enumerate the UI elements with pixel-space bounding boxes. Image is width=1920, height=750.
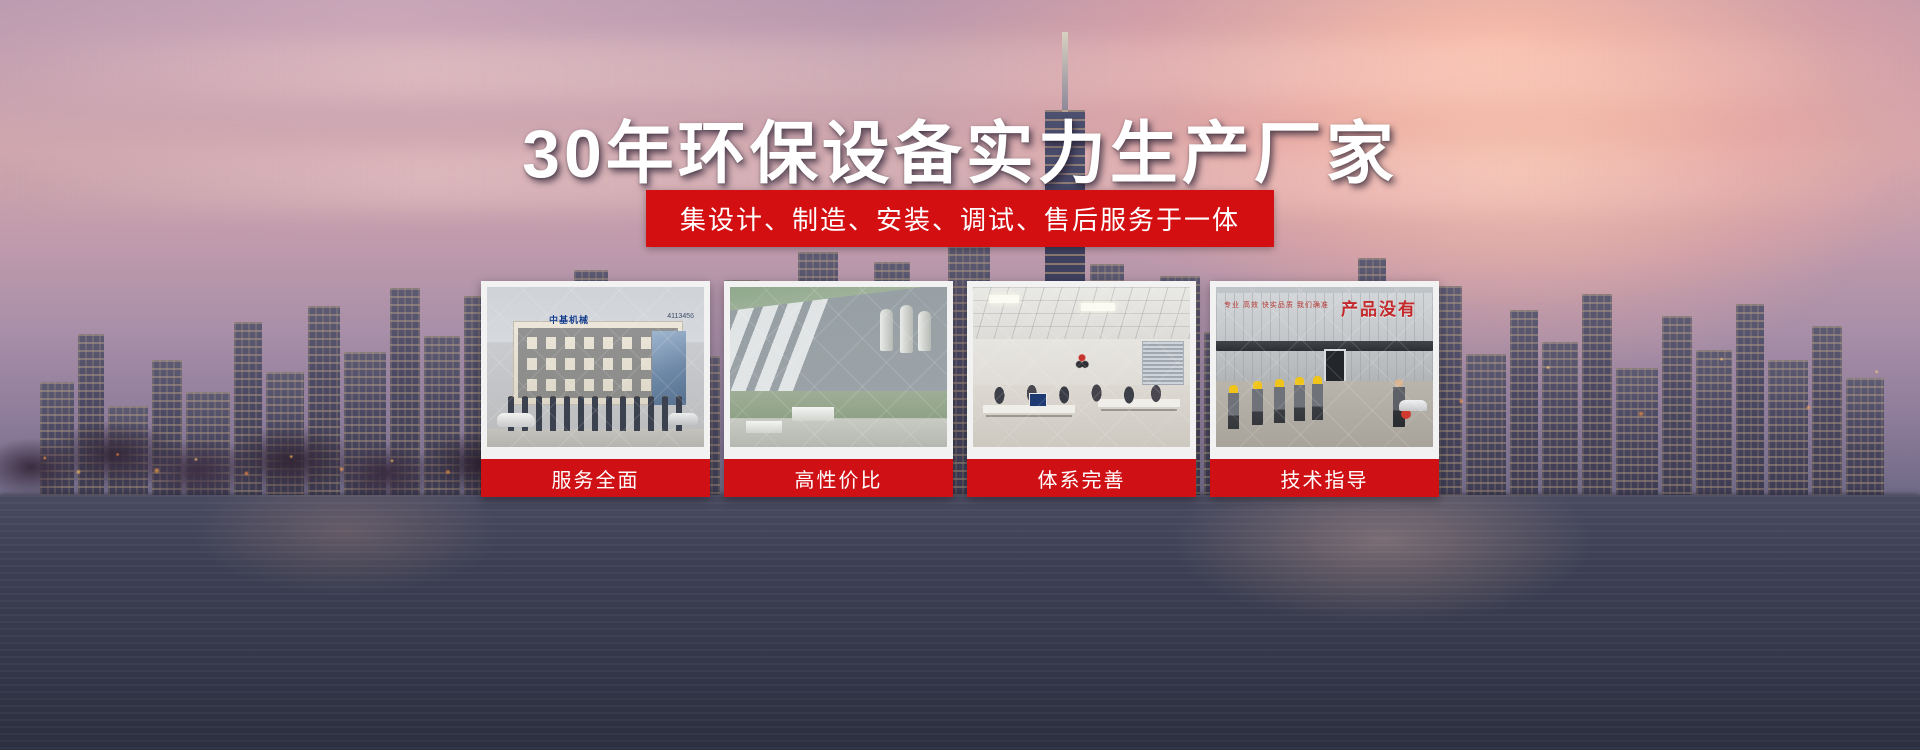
card-spacer bbox=[967, 447, 1196, 453]
parked-car bbox=[1399, 400, 1427, 411]
feature-card[interactable]: 中基机械 4113456 服务全面 bbox=[481, 281, 710, 497]
wall-decal bbox=[1069, 349, 1095, 371]
workshop-workers-briefing-photo: 产品没有 专业 高效 快实品质 我们确准 bbox=[1216, 287, 1433, 447]
delivery-truck bbox=[746, 421, 782, 433]
ceiling-light bbox=[1081, 303, 1115, 311]
worker-figure bbox=[1252, 389, 1263, 425]
worker-figure bbox=[1274, 387, 1285, 423]
worker-figure bbox=[1228, 393, 1239, 429]
workshop-door bbox=[1324, 349, 1346, 383]
hero-banner: 30年环保设备实力生产厂家 集设计、制造、安装、调试、售后服务于一体 中基机械 … bbox=[0, 0, 1920, 750]
building-plate-number: 4113456 bbox=[667, 313, 694, 320]
feature-card[interactable]: 产品没有 专业 高效 快实品质 我们确准 技术指导 bbox=[1210, 281, 1439, 497]
storage-silo bbox=[918, 311, 931, 351]
page-title: 30年环保设备实力生产厂家 bbox=[0, 98, 1920, 197]
delivery-truck bbox=[792, 407, 834, 421]
feature-card-list: 中基机械 4113456 服务全面 bbox=[481, 281, 1439, 497]
card-label: 体系完善 bbox=[967, 459, 1196, 497]
courtyard-ground bbox=[487, 429, 704, 447]
storage-silo bbox=[900, 305, 913, 353]
aerial-factory-plant-photo bbox=[730, 287, 947, 447]
workshop-slogan-large: 产品没有 bbox=[1341, 295, 1417, 320]
parked-car-left bbox=[497, 413, 535, 427]
card-spacer bbox=[1210, 447, 1439, 453]
plant-yard bbox=[730, 391, 947, 447]
worker-figure bbox=[1312, 384, 1323, 420]
workshop-slogan-small: 专业 高效 快实品质 我们确准 bbox=[1224, 301, 1329, 312]
worker-figure bbox=[1294, 385, 1305, 421]
office-staff bbox=[985, 381, 1165, 405]
ceiling-light bbox=[989, 295, 1019, 303]
card-label: 高性价比 bbox=[724, 459, 953, 497]
card-spacer bbox=[724, 447, 953, 453]
subtitle-banner: 集设计、制造、安装、调试、售后服务于一体 bbox=[646, 190, 1274, 247]
card-label: 服务全面 bbox=[481, 459, 710, 497]
storage-silo bbox=[880, 309, 893, 351]
glass-atrium bbox=[652, 331, 686, 405]
card-label: 技术指导 bbox=[1210, 459, 1439, 497]
feature-card[interactable]: 体系完善 bbox=[967, 281, 1196, 497]
feature-card[interactable]: 高性价比 bbox=[724, 281, 953, 497]
desk-monitor bbox=[1029, 393, 1047, 407]
company-headquarters-photo: 中基机械 4113456 bbox=[487, 287, 704, 447]
office-interior-staff-photo bbox=[973, 287, 1190, 447]
card-spacer bbox=[481, 447, 710, 453]
parked-car-right bbox=[668, 413, 698, 425]
building-signage-text: 中基机械 bbox=[549, 313, 589, 326]
